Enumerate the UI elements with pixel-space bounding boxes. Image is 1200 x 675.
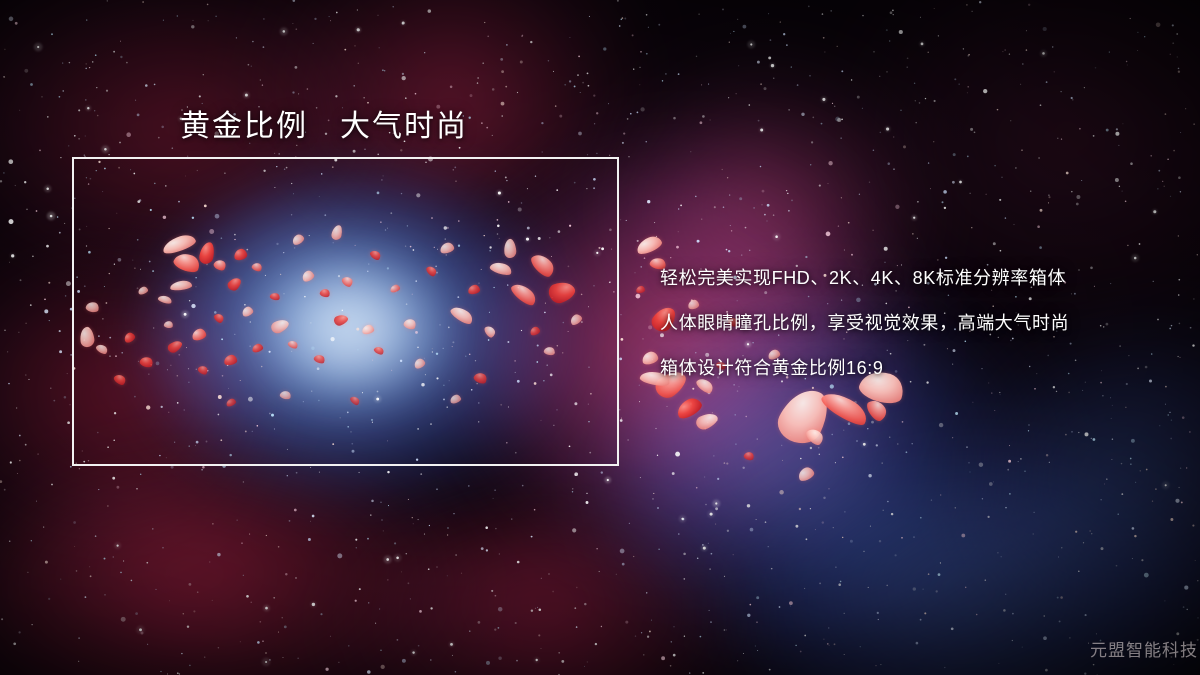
flower-petal bbox=[226, 275, 244, 293]
flower-petal bbox=[467, 284, 480, 295]
flower-petal bbox=[546, 278, 577, 306]
flower-petal bbox=[269, 292, 281, 301]
body-line-3: 箱体设计符合黄金比例16:9 bbox=[660, 346, 1180, 391]
flower-petal bbox=[137, 286, 149, 296]
flower-petal bbox=[373, 345, 385, 356]
flower-petal bbox=[319, 288, 331, 299]
flower-petal bbox=[389, 284, 401, 294]
flower-petal bbox=[529, 326, 541, 337]
flower-petal bbox=[241, 305, 255, 317]
flower-petal bbox=[212, 258, 227, 273]
flower-petal bbox=[161, 232, 198, 256]
flower-petal bbox=[425, 264, 438, 278]
flower-petal bbox=[543, 346, 556, 356]
flower-petal bbox=[251, 261, 263, 272]
flower-petal bbox=[223, 354, 237, 366]
body-line-2: 人体眼睛瞳孔比例，享受视觉效果，高端大气时尚 bbox=[660, 301, 1180, 346]
flower-petal bbox=[113, 372, 128, 386]
flower-petal bbox=[79, 326, 96, 348]
flower-petal bbox=[251, 343, 264, 354]
flower-petal bbox=[172, 250, 202, 276]
flower-petal bbox=[569, 313, 584, 327]
watermark: 元盟智能科技 bbox=[1090, 636, 1198, 661]
flower-petal bbox=[331, 224, 344, 241]
flower-petal bbox=[403, 317, 418, 331]
flower-petal bbox=[439, 241, 455, 254]
flower-petal bbox=[269, 316, 291, 335]
flower-petal bbox=[225, 397, 237, 407]
flower-petal bbox=[313, 353, 326, 365]
flower-petal bbox=[503, 238, 517, 258]
page-title: 黄金比例 大气时尚 bbox=[180, 101, 468, 145]
flower-petal bbox=[157, 294, 172, 305]
flower-petal bbox=[483, 324, 497, 339]
flower-petal bbox=[123, 331, 137, 344]
photo-frame bbox=[72, 157, 619, 466]
flower-petal bbox=[163, 320, 173, 328]
flower-petal bbox=[95, 342, 109, 355]
flower-petal bbox=[300, 269, 315, 283]
flower-petal bbox=[340, 274, 354, 288]
flower-petal bbox=[85, 301, 100, 314]
flower-petal bbox=[279, 390, 292, 401]
flower-petal bbox=[349, 395, 361, 407]
presentation-slide: 黄金比例 大气时尚 轻松完美实现FHD、2K、4K、8K标准分辨率箱体 人体眼睛… bbox=[0, 0, 1200, 675]
body-copy: 轻松完美实现FHD、2K、4K、8K标准分辨率箱体 人体眼睛瞳孔比例，享受视觉效… bbox=[660, 256, 1180, 391]
flower-petal bbox=[449, 303, 476, 326]
flower-petal bbox=[166, 338, 184, 355]
flower-petal bbox=[197, 364, 210, 376]
flower-petal bbox=[369, 248, 383, 261]
flower-petal bbox=[489, 260, 513, 277]
flower-petal bbox=[528, 250, 557, 280]
flower-petal bbox=[361, 324, 375, 335]
flower-petal bbox=[291, 233, 306, 247]
flower-petal bbox=[170, 280, 193, 291]
flower-petal bbox=[213, 312, 226, 325]
flower-petal bbox=[139, 355, 155, 369]
flower-petal bbox=[333, 313, 350, 328]
flower-petal bbox=[233, 248, 248, 261]
flower-petal bbox=[191, 327, 207, 341]
photo-frame-content bbox=[74, 159, 617, 464]
flower-petal bbox=[449, 393, 462, 404]
body-line-1: 轻松完美实现FHD、2K、4K、8K标准分辨率箱体 bbox=[660, 256, 1180, 301]
flower-petal bbox=[287, 339, 299, 350]
flower-petal bbox=[509, 280, 539, 309]
flower-petal bbox=[472, 371, 488, 386]
flower-petal bbox=[413, 357, 427, 370]
flower-petal bbox=[198, 241, 216, 265]
